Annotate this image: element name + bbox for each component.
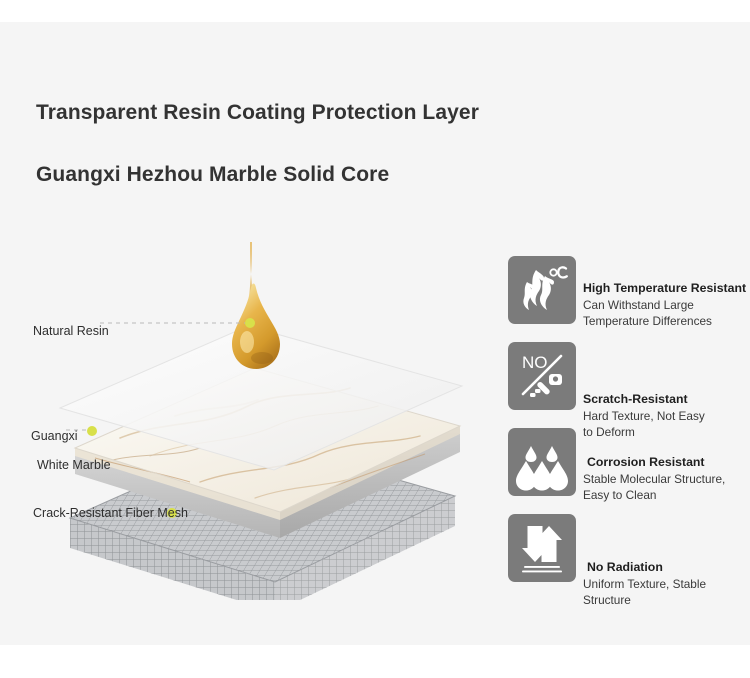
feature-desc: Uniform Texture, Stable Structure	[583, 577, 750, 608]
product-infographic: Transparent Resin Coating Protection Lay…	[0, 0, 750, 678]
feature-text-corrosion-resistant: Corrosion Resistant Stable Molecular Str…	[583, 455, 750, 503]
callout-guangxi-white-marble: Guangxi White Marble	[31, 427, 111, 476]
layer-structure-diagram	[0, 230, 500, 600]
feature-title: Corrosion Resistant	[583, 455, 750, 470]
water-droplets-icon	[508, 428, 576, 496]
callout-guangxi-line1: Guangxi	[31, 429, 78, 443]
flame-celsius-icon	[508, 256, 576, 324]
page-title-line1: Transparent Resin Coating Protection Lay…	[36, 100, 676, 127]
feature-list: High Temperature Resistant Can Withstand…	[508, 256, 750, 600]
feature-text-high-temperature-resistant: High Temperature Resistant Can Withstand…	[583, 281, 750, 329]
up-down-arrows-icon	[508, 514, 576, 582]
feature-item-no-radiation: No Radiation Uniform Texture, Stable Str…	[508, 514, 750, 600]
no-key-scratch-icon: NO	[508, 342, 576, 410]
callout-natural-resin: Natural Resin	[33, 322, 109, 341]
feature-item-scratch-resistant: NO Scratch-Resistant Hard Texture, Not E…	[508, 342, 750, 428]
callout-crack-resistant-fiber-mesh: Crack-Resistant Fiber Mesh	[33, 504, 188, 523]
feature-title: High Temperature Resistant	[583, 281, 750, 296]
slab-illustration	[0, 230, 500, 600]
resin-drop-icon	[232, 242, 280, 369]
headings-block: Transparent Resin Coating Protection Lay…	[36, 100, 676, 189]
callout-guangxi-line2: White Marble	[31, 456, 111, 475]
feature-item-corrosion-resistant: Corrosion Resistant Stable Molecular Str…	[508, 428, 750, 514]
feature-item-high-temperature-resistant: High Temperature Resistant Can Withstand…	[508, 256, 750, 342]
svg-text:NO: NO	[522, 353, 548, 372]
page-title-line2: Guangxi Hezhou Marble Solid Core	[36, 162, 676, 189]
feature-desc: Can Withstand Large Temperature Differen…	[583, 298, 750, 329]
marker-dot-resin	[245, 318, 255, 328]
feature-title: No Radiation	[583, 560, 750, 575]
key-shape	[530, 374, 562, 397]
feature-title: Scratch-Resistant	[583, 392, 750, 407]
feature-text-no-radiation: No Radiation Uniform Texture, Stable Str…	[583, 560, 750, 608]
feature-desc: Stable Molecular Structure, Easy to Clea…	[583, 472, 750, 503]
